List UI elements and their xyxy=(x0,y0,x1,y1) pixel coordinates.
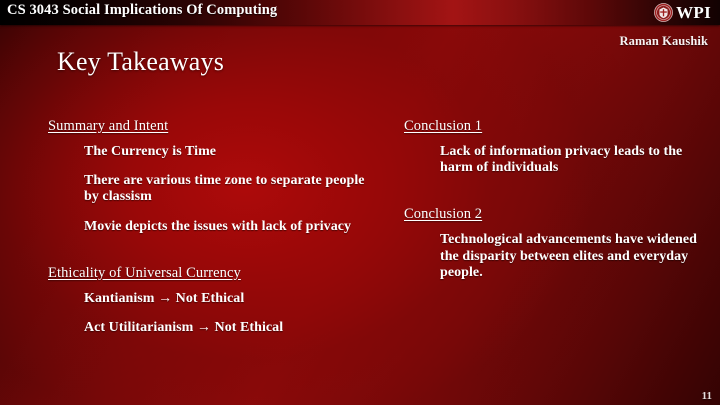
group-spacer xyxy=(404,176,704,206)
bullet-item: Technological advancements have widened … xyxy=(404,232,704,281)
presentation-slide: CS 3043 Social Implications Of Computing… xyxy=(0,0,720,405)
content-group-ethicality-of-universal-currency: Ethicality of Universal Currency Kantian… xyxy=(48,265,378,336)
content-group-summary-and-intent: Summary and Intent The Currency is Time … xyxy=(48,118,378,235)
content-column-left: Summary and Intent The Currency is Time … xyxy=(48,118,378,336)
group-heading: Summary and Intent xyxy=(48,118,378,135)
bullet-item: There are various time zone to separate … xyxy=(48,173,378,205)
bullet-item: Act Utilitarianism → Not Ethical xyxy=(48,320,378,336)
bullet-item: Kantianism → Not Ethical xyxy=(48,291,378,307)
wpi-wordmark: WPI xyxy=(676,3,711,22)
group-heading: Ethicality of Universal Currency xyxy=(48,265,378,282)
slide-header-banner: CS 3043 Social Implications Of Computing… xyxy=(0,0,720,25)
group-heading: Conclusion 2 xyxy=(404,206,704,223)
bullet-item: Movie depicts the issues with lack of pr… xyxy=(48,219,378,235)
page-title: Key Takeaways xyxy=(57,47,224,77)
wpi-logo: WPI xyxy=(654,1,711,24)
course-title: CS 3043 Social Implications Of Computing xyxy=(7,2,277,19)
wpi-seal-icon xyxy=(654,3,673,22)
content-group-conclusion-2: Conclusion 2 Technological advancements … xyxy=(404,206,704,281)
content-column-right: Conclusion 1 Lack of information privacy… xyxy=(404,118,704,281)
presenter-name: Raman Kaushik xyxy=(620,34,708,49)
bullet-item: The Currency is Time xyxy=(48,144,378,160)
slide-number: 11 xyxy=(702,390,712,402)
content-group-conclusion-1: Conclusion 1 Lack of information privacy… xyxy=(404,118,704,176)
group-spacer xyxy=(48,235,378,265)
bullet-item: Lack of information privacy leads to the… xyxy=(404,144,704,176)
group-heading: Conclusion 1 xyxy=(404,118,704,135)
